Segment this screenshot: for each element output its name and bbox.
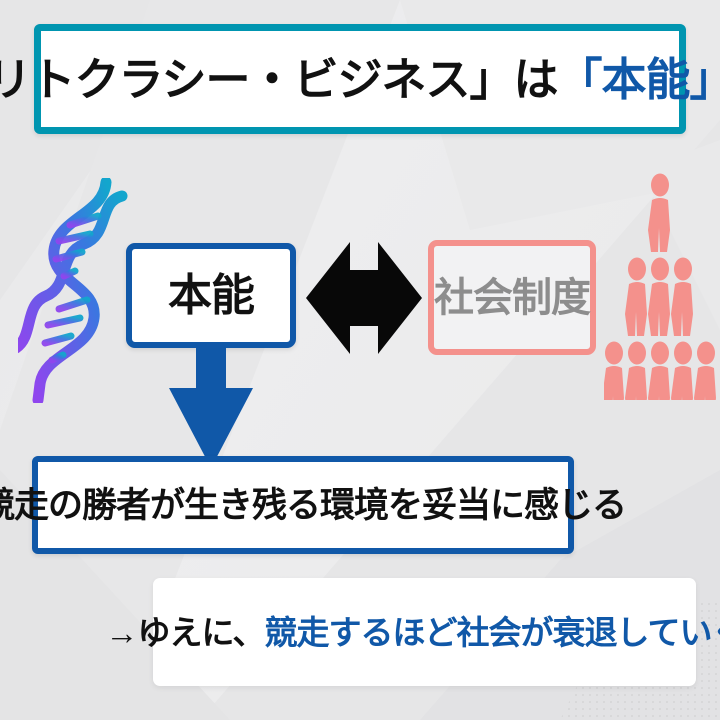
title-banner: 「メリトクラシー・ビジネス」は「本能」の側 [34, 24, 686, 134]
conclusion-box: →ゆえに、競走するほど社会が衰退していく [153, 578, 696, 686]
conclusion-highlight: 競走するほど社会が衰退していく [265, 614, 720, 651]
result-box: 競走の勝者が生き残る環境を妥当に感じる [32, 456, 574, 554]
people-hierarchy-icon [604, 172, 716, 400]
title-highlight: 「本能」 [558, 54, 720, 105]
social-system-box-label: 社会制度 [434, 278, 590, 318]
bidirectional-arrow-icon [306, 238, 422, 358]
conclusion-prefix: →ゆえに、 [105, 614, 264, 651]
slide-canvas: 「メリトクラシー・ビジネス」は「本能」の側 [0, 0, 720, 720]
instinct-box-label: 本能 [168, 274, 254, 318]
page-title: 「メリトクラシー・ビジネス」は「本能」の側 [0, 57, 720, 102]
social-system-box: 社会制度 [428, 240, 596, 355]
result-text: 競走の勝者が生き残る環境を妥当に感じる [0, 488, 626, 523]
conclusion-text: →ゆえに、競走するほど社会が衰退していく [105, 616, 720, 649]
instinct-box: 本能 [126, 243, 296, 348]
title-prefix: 「メリトクラシー・ビジネス」は [0, 54, 558, 105]
dna-helix-icon [18, 178, 128, 403]
downward-arrow-icon [163, 344, 259, 468]
